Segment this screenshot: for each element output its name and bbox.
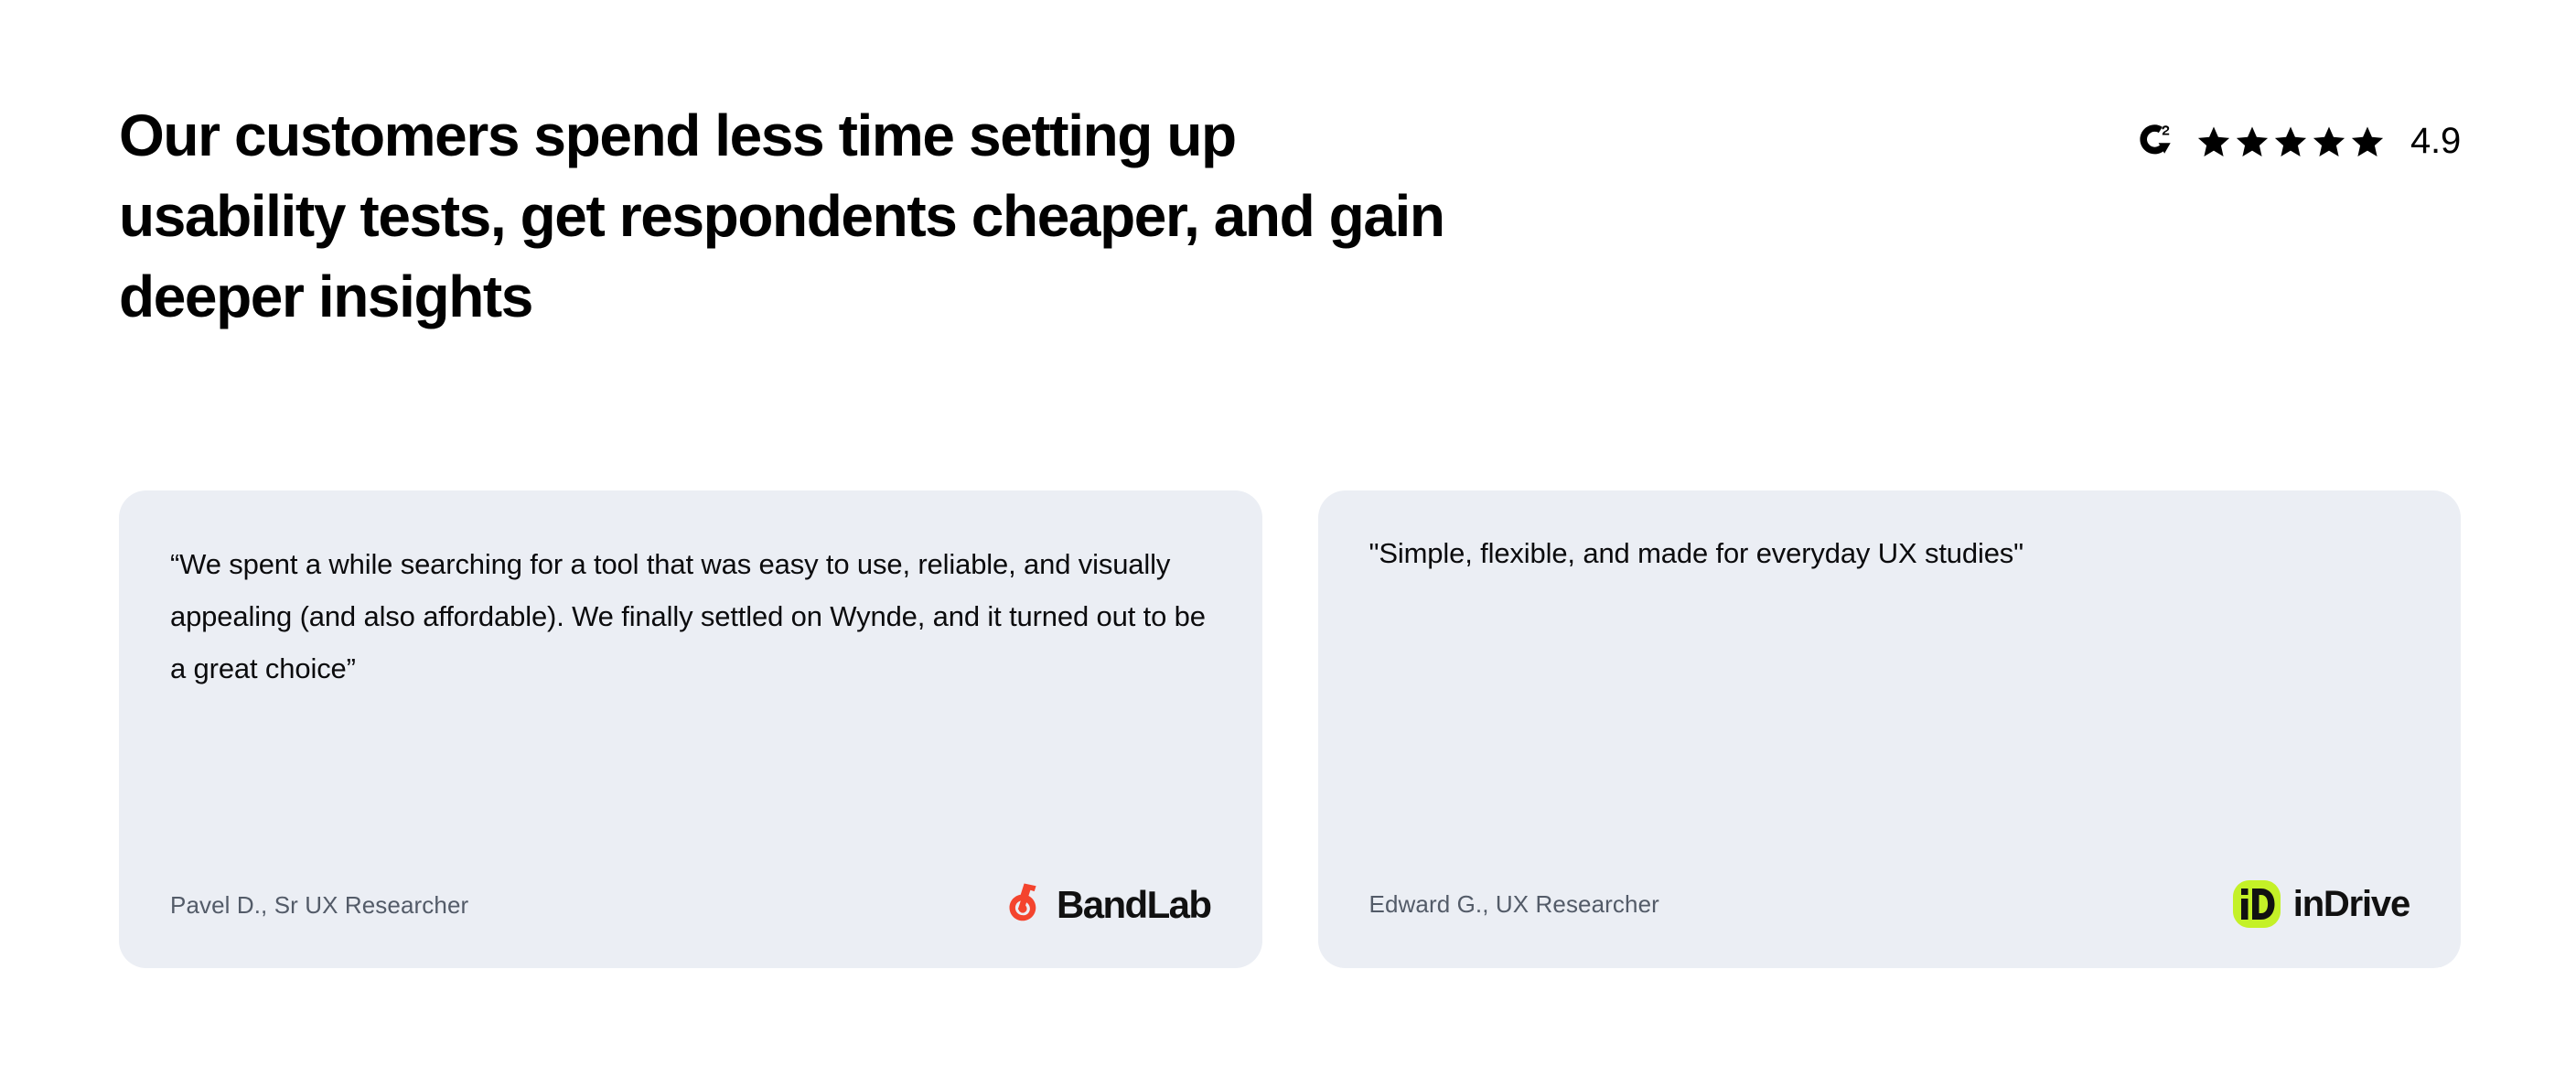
- testimonial-card: “We spent a while searching for a tool t…: [119, 490, 1262, 968]
- page-title: Our customers spend less time setting up…: [119, 95, 1444, 337]
- star-rating: [2196, 124, 2385, 159]
- section-header: Our customers spend less time setting up…: [119, 0, 2461, 337]
- company-name: inDrive: [2293, 884, 2410, 925]
- rating-value: 4.9: [2410, 121, 2461, 162]
- testimonial-card-list: “We spent a while searching for a tool t…: [119, 490, 2461, 968]
- testimonial-attribution: Edward G., UX Researcher: [1369, 889, 1659, 920]
- star-filled-icon: [2273, 124, 2308, 159]
- indrive-mark-icon: [2233, 880, 2281, 928]
- bandlab-mark-icon: [1002, 882, 1044, 928]
- star-filled-icon: [2350, 124, 2385, 159]
- testimonial-attribution: Pavel D., Sr UX Researcher: [170, 889, 468, 921]
- testimonial-quote: "Simple, flexible, and made for everyday…: [1369, 533, 2410, 575]
- star-filled-icon: [2312, 124, 2346, 159]
- testimonial-footer: Pavel D., Sr UX Researcher BandLab: [170, 882, 1211, 928]
- g2-rating-badge[interactable]: 4.9: [2136, 95, 2461, 162]
- company-logo-bandlab: BandLab: [1002, 882, 1210, 928]
- star-filled-icon: [2235, 124, 2270, 159]
- testimonial-quote: “We spent a while searching for a tool t…: [170, 538, 1211, 695]
- testimonials-section: Our customers spend less time setting up…: [0, 0, 2576, 1077]
- star-filled-icon: [2196, 124, 2231, 159]
- company-name: BandLab: [1057, 883, 1210, 927]
- testimonial-footer: Edward G., UX Researcher inDrive: [1369, 880, 2410, 928]
- testimonial-card: "Simple, flexible, and made for everyday…: [1318, 490, 2462, 968]
- g2-logo-icon: [2136, 122, 2176, 162]
- company-logo-indrive: inDrive: [2233, 880, 2410, 928]
